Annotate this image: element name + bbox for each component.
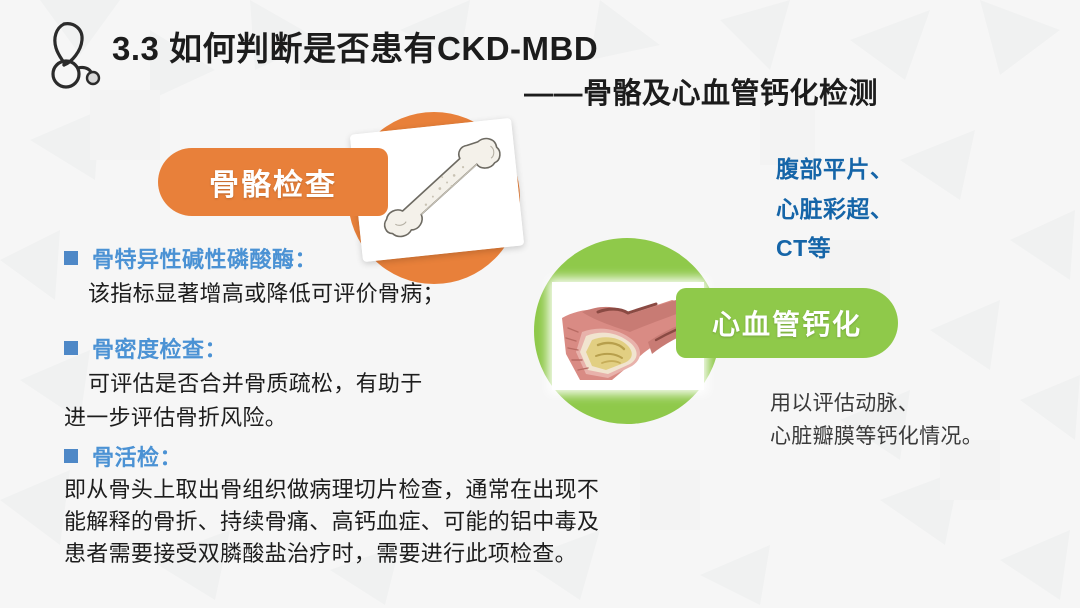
bullet-block-alp: 骨特异性碱性磷酸酶： 该指标显著增高或降低可评价骨病； [64,242,445,308]
cardiovascular-note: 用以评估动脉、 心脏瓣膜等钙化情况。 [770,388,983,453]
method-item: CT等 [776,229,894,269]
method-item: 腹部平片、 [776,150,894,190]
page-title: 3.3 如何判断是否患有CKD-MBD [112,22,598,70]
bullet-body-line: 即从骨头上取出骨组织做病理切片检查，通常在出现不 [64,476,599,504]
bullet-heading-row: 骨活检： [64,440,599,472]
slide-canvas: 3.3 如何判断是否患有CKD-MBD ——骨骼及心血管钙化检测 骨骼检查 [0,0,1080,608]
skeletal-badge-label: 骨骼检查 [209,160,337,204]
bullet-heading: 骨活检： [92,440,182,472]
bullet-body-line: 患者需要接受双膦酸盐治疗时，需要进行此项检查。 [64,540,599,568]
cardiovascular-badge-label: 心血管钙化 [712,303,862,343]
bullet-body-line: 能解释的骨折、持续骨痛、高钙血症、可能的铝中毒及 [64,508,599,536]
square-bullet-icon [64,251,78,265]
bullet-heading-row: 骨特异性碱性磷酸酶： [64,242,445,274]
bullet-block-biopsy: 骨活检： 即从骨头上取出骨组织做病理切片检查，通常在出现不 能解释的骨折、持续骨… [64,440,599,568]
bullet-heading: 骨密度检查： [92,332,227,364]
cardiovascular-badge[interactable]: 心血管钙化 [676,288,898,358]
cardiovascular-method-list: 腹部平片、 心脏彩超、 CT等 [776,150,894,269]
note-line: 心脏瓣膜等钙化情况。 [770,421,983,454]
bullet-body-line: 该指标显著增高或降低可评价骨病； [64,280,445,308]
bullet-body-line: 进一步评估骨折风险。 [64,404,423,432]
skeletal-badge[interactable]: 骨骼检查 [158,148,388,216]
bullet-heading-row: 骨密度检查： [64,332,423,364]
square-bullet-icon [64,449,78,463]
method-item: 心脏彩超、 [776,190,894,230]
bullet-heading: 骨特异性碱性磷酸酶： [92,242,317,274]
slide-header: 3.3 如何判断是否患有CKD-MBD ——骨骼及心血管钙化检测 [0,0,1080,115]
stethoscope-icon [42,18,102,96]
page-subtitle: ——骨骼及心血管钙化检测 [524,70,878,112]
bullet-body-line: 可评估是否合并骨质疏松，有助于 [64,370,423,398]
note-line: 用以评估动脉、 [770,388,983,421]
square-bullet-icon [64,341,78,355]
bullet-block-bmd: 骨密度检查： 可评估是否合并骨质疏松，有助于 进一步评估骨折风险。 [64,332,423,432]
